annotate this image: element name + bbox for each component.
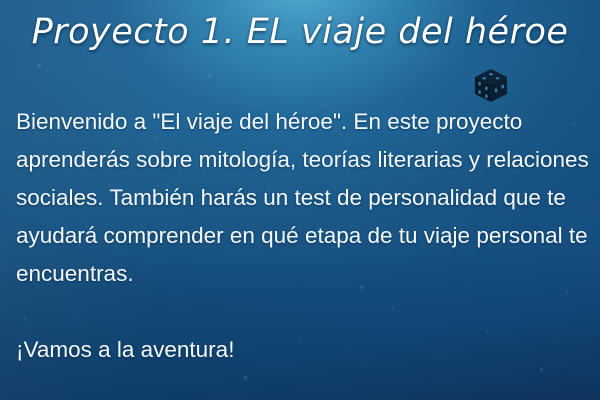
body-paragraph-call-to-action: ¡Vamos a la aventura! (16, 331, 594, 369)
page-title: Proyecto 1. EL viaje del héroe (0, 8, 600, 56)
paragraph-spacer (16, 293, 594, 331)
slide-canvas: Proyecto 1. EL viaje del héroe Bienvenid… (0, 0, 600, 400)
body-text-block: Bienvenido a "El viaje del héroe". En es… (16, 103, 594, 369)
body-paragraph-intro: Bienvenido a "El viaje del héroe". En es… (16, 103, 594, 293)
dice-icon (472, 67, 510, 105)
